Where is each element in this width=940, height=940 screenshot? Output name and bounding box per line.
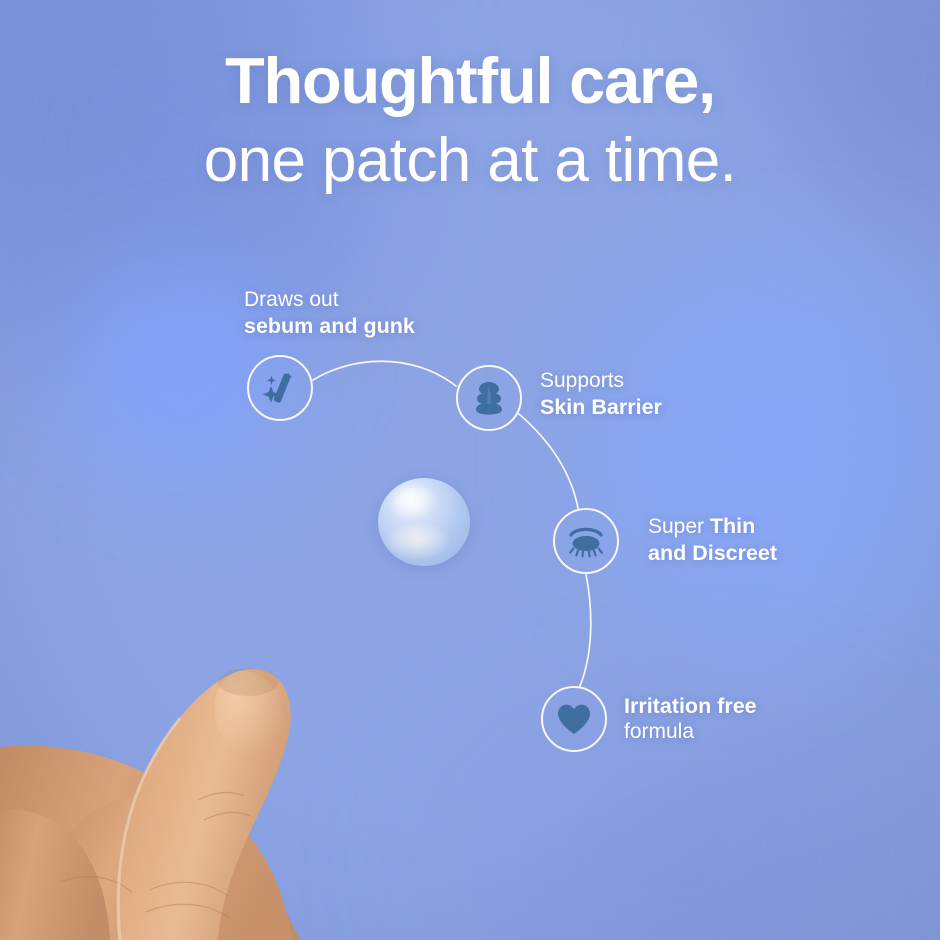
hand-holding-patch — [0, 420, 560, 940]
feature-label-supports-skin-barrier: Supports Skin Barrier — [540, 368, 662, 420]
feature-label-regular: Super — [648, 515, 710, 538]
feature-label-bold: sebum and gunk — [244, 313, 415, 339]
hand-illustration — [0, 420, 560, 940]
feature-label-draws-out-sebum: Draws out sebum and gunk — [244, 287, 415, 339]
feature-node-super-thin-discreet[interactable] — [553, 508, 619, 574]
feature-label-regular: Supports — [540, 368, 662, 394]
headline: Thoughtful care, one patch at a time. — [0, 48, 940, 197]
feature-node-draws-out-sebum[interactable] — [247, 355, 313, 421]
feature-label-irritation-free: Irritation free formula — [624, 693, 757, 745]
magic-wand-sparkle-icon — [260, 368, 300, 408]
feature-label-bold-part2: and Discreet — [648, 540, 777, 566]
patch-sheen — [392, 486, 438, 520]
eye-icon — [565, 520, 607, 562]
feature-label-regular: Draws out — [244, 287, 415, 313]
patch-contact-glow — [386, 524, 448, 558]
feature-label-bold: Skin Barrier — [540, 394, 662, 420]
headline-line-2: one patch at a time. — [0, 124, 940, 197]
feature-label-bold-part1: Thin — [710, 514, 755, 538]
marketing-hero-image: Thoughtful care, one patch at a time. — [0, 0, 940, 940]
patch-contact-shadow — [218, 668, 278, 696]
headline-line-1: Thoughtful care, — [0, 48, 940, 114]
heart-icon — [555, 700, 593, 738]
feature-label-regular: formula — [624, 719, 757, 745]
feature-label-super-thin-discreet: Super Thin and Discreet — [648, 513, 777, 566]
skin-layers-icon — [469, 378, 509, 418]
feature-label-bold: Irritation free — [624, 693, 757, 719]
